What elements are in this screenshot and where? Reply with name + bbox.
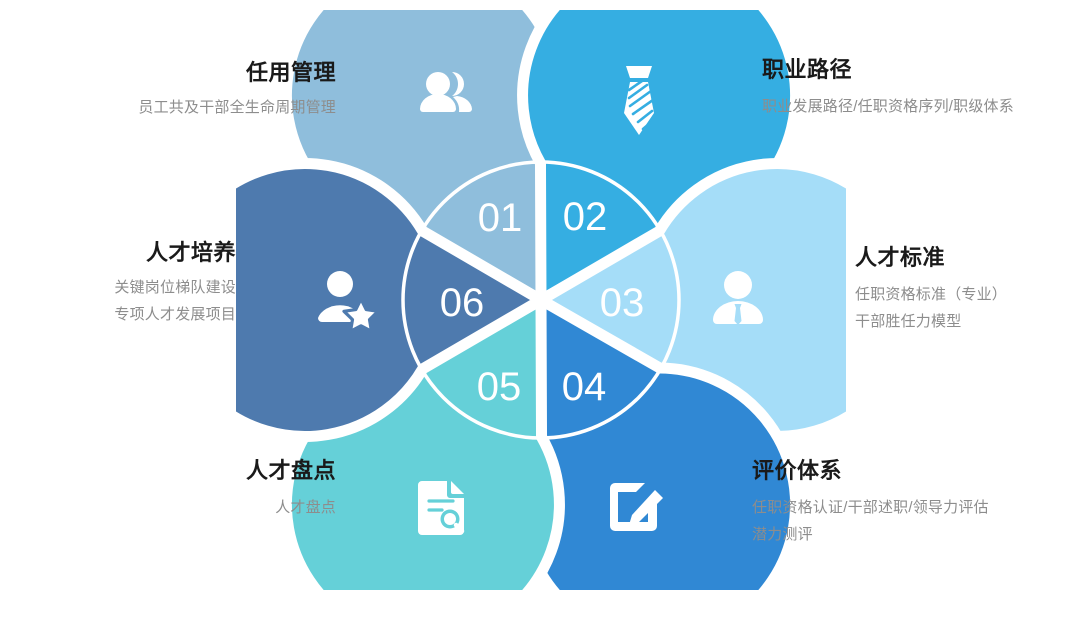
label-title-03: 人才标准 [855, 243, 1007, 273]
label-block-05: 人才盘点 人才盘点 [246, 456, 336, 521]
segment-number-04: 04 [562, 365, 607, 409]
label-subtitle-03-line-1: 任职资格标准（专业） [855, 281, 1007, 309]
label-title-05: 人才盘点 [246, 456, 336, 486]
label-block-03: 人才标准 任职资格标准（专业） 干部胜任力模型 [855, 243, 1007, 336]
label-block-02: 职业路径 职业发展路径/任职资格序列/职级体系 [762, 55, 1014, 120]
label-title-04: 评价体系 [752, 456, 989, 486]
label-subtitle-03-line-2: 干部胜任力模型 [855, 308, 1007, 336]
label-title-06: 人才培养 [114, 238, 236, 268]
segment-number-03: 03 [600, 281, 645, 325]
segment-number-05: 05 [477, 365, 522, 409]
label-block-04: 评价体系 任职资格认证/干部述职/领导力评估 潜力测评 [752, 456, 989, 549]
label-subtitle-04-line-1: 任职资格认证/干部述职/领导力评估 [752, 494, 989, 522]
document-search-icon [418, 481, 464, 535]
label-block-06: 人才培养 关键岗位梯队建设 专项人才发展项目 [114, 238, 236, 329]
label-title-02: 职业路径 [762, 55, 1014, 85]
segment-number-06: 06 [440, 281, 485, 325]
label-block-01: 任用管理 员工共及干部全生命周期管理 [138, 58, 336, 121]
label-subtitle-01-line-1: 员工共及干部全生命周期管理 [138, 94, 336, 122]
label-title-01: 任用管理 [138, 58, 336, 88]
label-subtitle-05-line-1: 人才盘点 [246, 494, 336, 522]
label-subtitle-06-line-1: 关键岗位梯队建设 [114, 274, 236, 302]
label-subtitle-06-line-2: 专项人才发展项目 [114, 301, 236, 329]
segment-number-02: 02 [563, 195, 608, 239]
segment-number-01: 01 [478, 196, 523, 240]
infographic-canvas: 01 02 03 04 05 06 [0, 0, 1081, 626]
label-subtitle-02-line-1: 职业发展路径/任职资格序列/职级体系 [762, 93, 1014, 121]
label-subtitle-04-line-2: 潜力测评 [752, 521, 989, 549]
